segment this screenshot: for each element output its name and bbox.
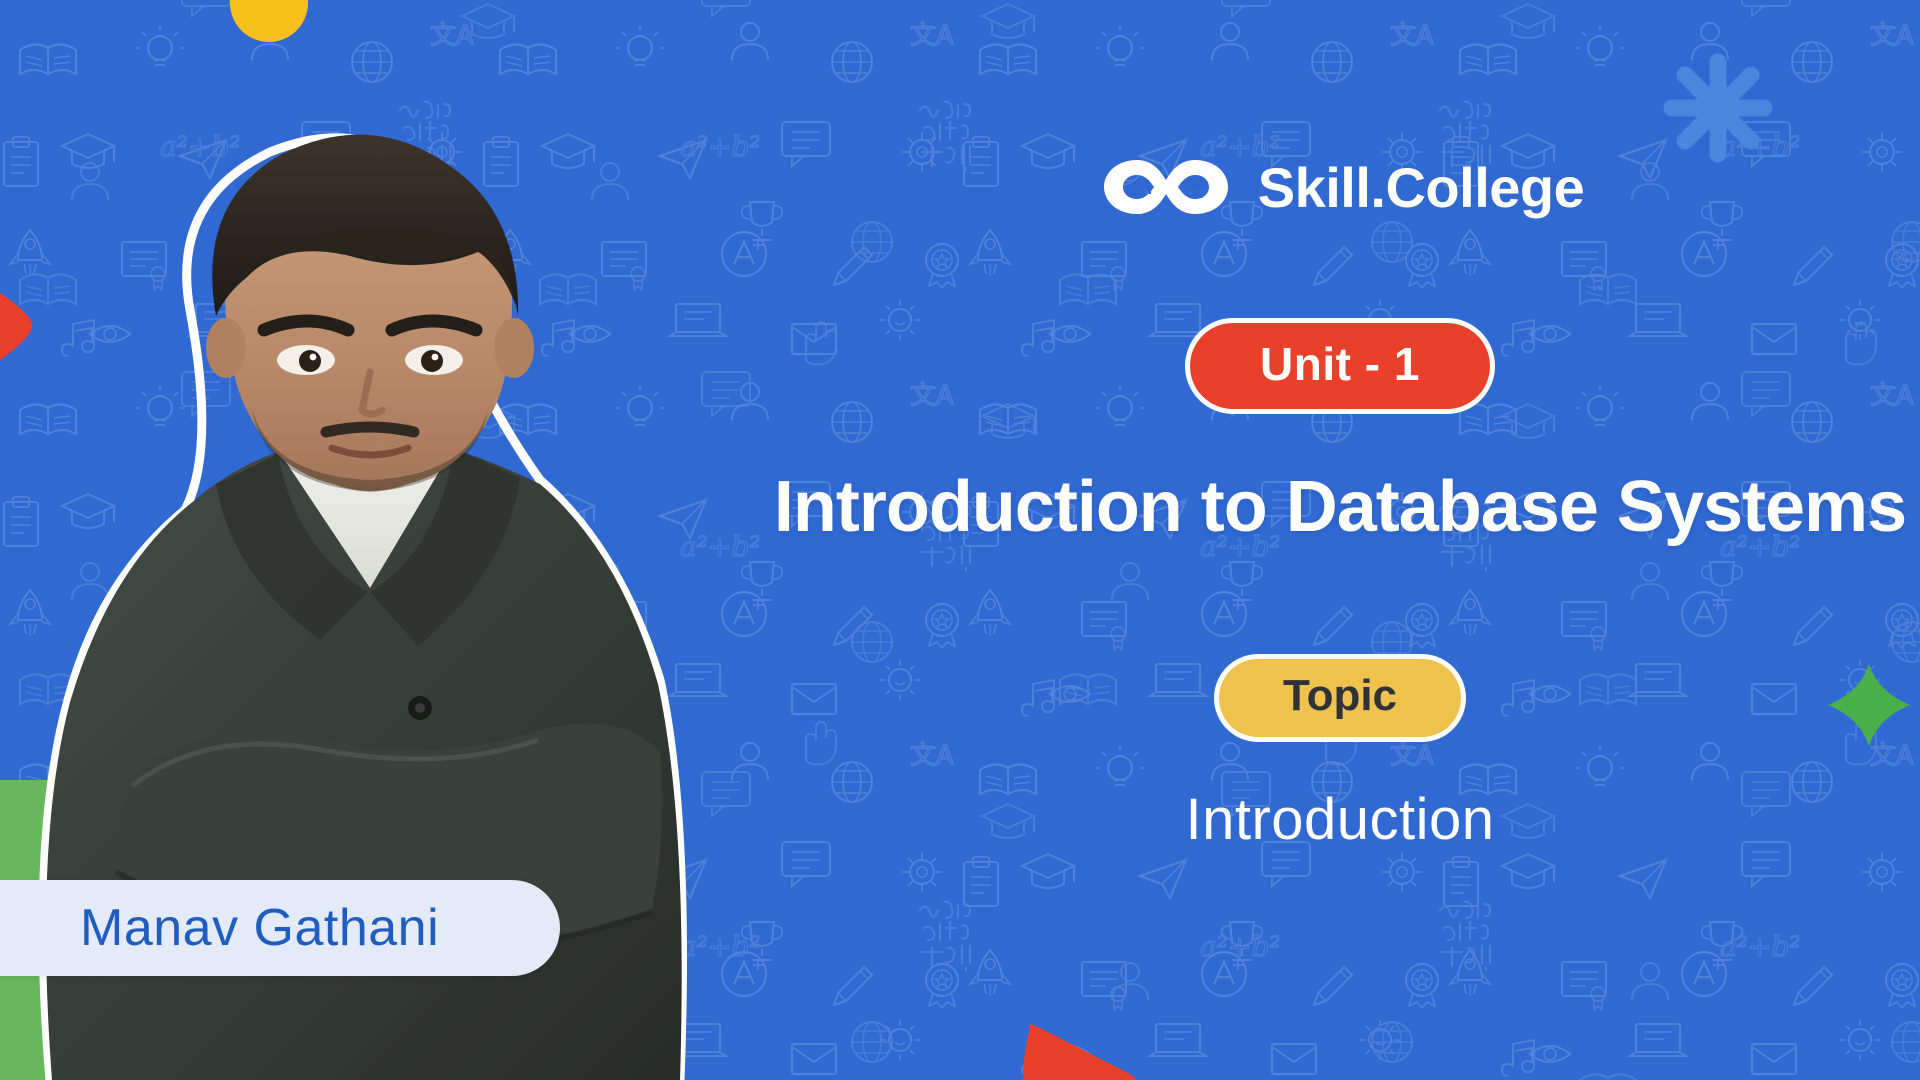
topic-value: Introduction: [1185, 786, 1494, 853]
brand-name: Skill.College: [1258, 155, 1585, 220]
brand-lockup: Skill.College: [1096, 150, 1585, 224]
unit-badge: Unit - 1: [1185, 318, 1495, 414]
presenter-name: Manav Gathani: [80, 898, 439, 958]
slide-title: Introduction to Database Systems: [774, 466, 1906, 548]
presenter-name-tag: Manav Gathani: [0, 880, 560, 976]
slide-canvas: a²+b²: [0, 0, 1920, 1080]
slide-content-column: Skill.College Unit - 1 Introduction to D…: [760, 0, 1920, 1080]
infinity-icon: [1096, 150, 1236, 224]
topic-badge: Topic: [1214, 654, 1466, 742]
